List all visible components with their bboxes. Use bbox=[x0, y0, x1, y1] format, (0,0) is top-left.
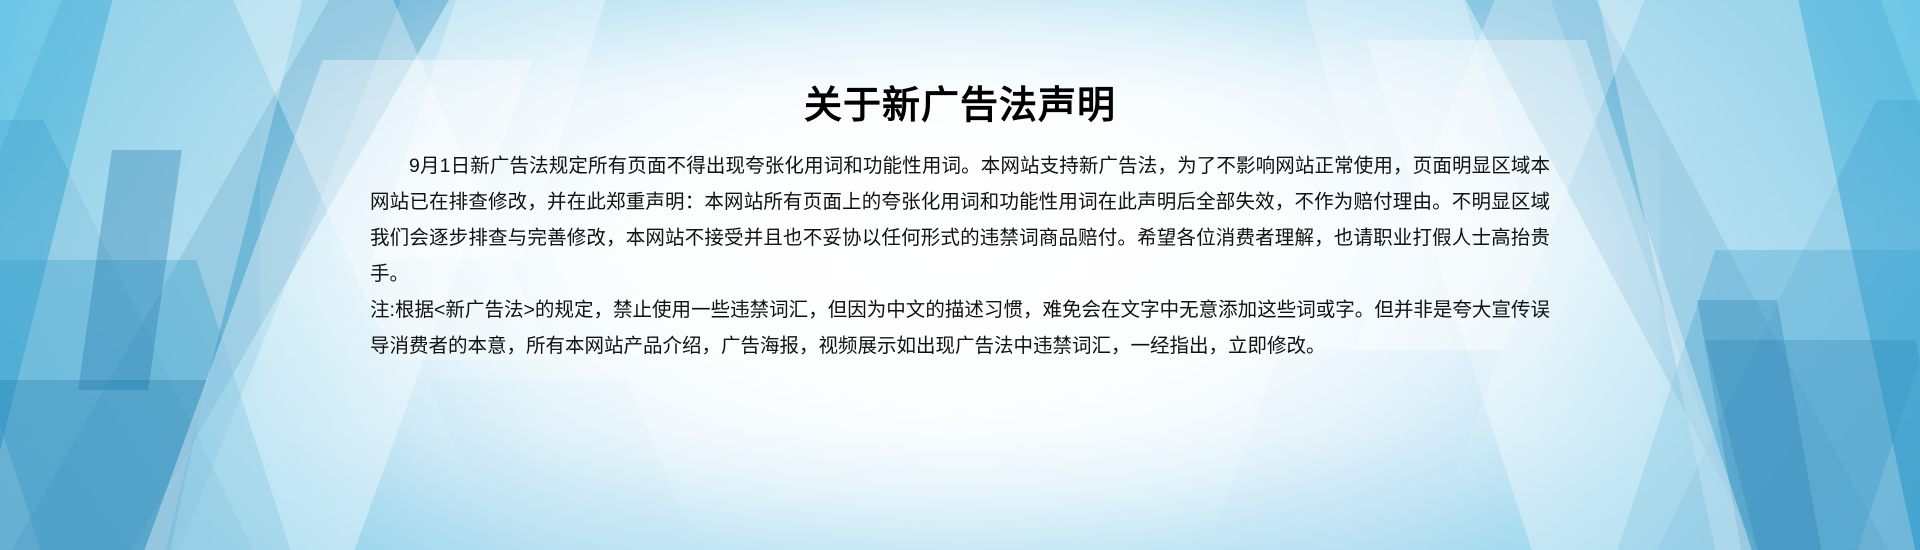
statement-content: 关于新广告法声明 9月1日新广告法规定所有页面不得出现夸张化用词和功能性用词。本… bbox=[0, 0, 1920, 550]
page-title: 关于新广告法声明 bbox=[804, 84, 1116, 130]
advertising-law-statement-banner: 关于新广告法声明 9月1日新广告法规定所有页面不得出现夸张化用词和功能性用词。本… bbox=[0, 0, 1920, 550]
statement-paragraph-note: 注:根据<新广告法>的规定，禁止使用一些违禁词汇，但因为中文的描述习惯，难免会在… bbox=[370, 292, 1550, 364]
statement-text-block: 9月1日新广告法规定所有页面不得出现夸张化用词和功能性用词。本网站支持新广告法，… bbox=[370, 148, 1550, 364]
statement-paragraph-main: 9月1日新广告法规定所有页面不得出现夸张化用词和功能性用词。本网站支持新广告法，… bbox=[370, 148, 1550, 292]
